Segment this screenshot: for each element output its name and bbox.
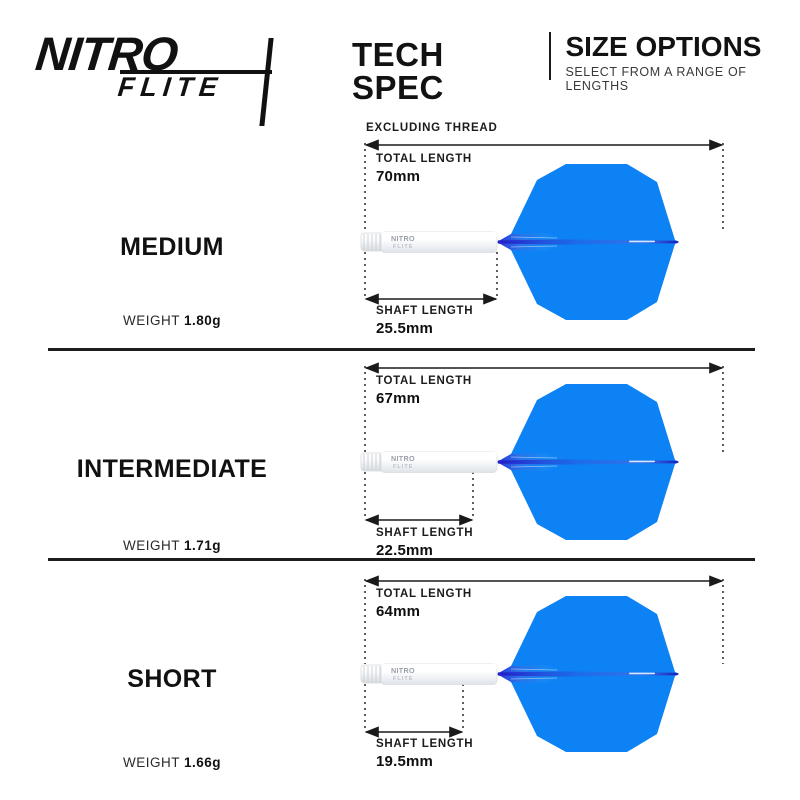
total-length-label-intermediate: TOTAL LENGTH xyxy=(376,375,472,387)
excluding-thread-note: EXCLUDING THREAD xyxy=(366,122,498,134)
size-name-medium: MEDIUM xyxy=(22,233,322,262)
total-length-value-short: 64mm xyxy=(376,603,420,620)
total-length-value-medium: 70mm xyxy=(376,168,420,185)
header-subtitle-group: SIZE OPTIONS SELECT FROM A RANGE OF LENG… xyxy=(565,32,800,93)
weight-label: WEIGHT xyxy=(123,313,180,328)
total-length-label-medium: TOTAL LENGTH xyxy=(376,153,472,165)
size-name-intermediate: INTERMEDIATE xyxy=(22,455,322,484)
shaft-length-label-short: SHAFT LENGTH xyxy=(376,738,473,750)
weight-short: WEIGHT 1.66g xyxy=(22,755,322,770)
dart-illustration-intermediate xyxy=(361,384,679,540)
weight-label: WEIGHT xyxy=(123,755,180,770)
brand-logo: NITRO FLITE xyxy=(36,30,276,108)
page-header: NITRO FLITE TECH SPEC SIZE OPTIONS SELEC… xyxy=(0,0,800,112)
weight-value: 1.71g xyxy=(184,538,221,553)
weight-medium: WEIGHT 1.80g xyxy=(22,313,322,328)
weight-label: WEIGHT xyxy=(123,538,180,553)
shaft-length-value-short: 19.5mm xyxy=(376,753,433,770)
brand-logo-slash xyxy=(259,38,273,126)
header-subtitle: SIZE OPTIONS xyxy=(565,32,800,61)
shaft-length-value-intermediate: 22.5mm xyxy=(376,542,433,559)
size-name-short: SHORT xyxy=(22,665,322,694)
total-length-label-short: TOTAL LENGTH xyxy=(376,588,472,600)
section-divider xyxy=(48,558,755,561)
page-title: TECH SPEC xyxy=(352,32,549,104)
weight-intermediate: WEIGHT 1.71g xyxy=(22,538,322,553)
shaft-length-value-medium: 25.5mm xyxy=(376,320,433,337)
header-vertical-divider xyxy=(549,32,552,80)
section-divider xyxy=(48,348,755,351)
brand-logo-flite: FLITE xyxy=(117,74,225,101)
dart-illustration-medium xyxy=(361,164,679,320)
shaft-length-label-medium: SHAFT LENGTH xyxy=(376,305,473,317)
weight-value: 1.66g xyxy=(184,755,221,770)
shaft-length-label-intermediate: SHAFT LENGTH xyxy=(376,527,473,539)
total-length-value-intermediate: 67mm xyxy=(376,390,420,407)
header-title-group: TECH SPEC SIZE OPTIONS SELECT FROM A RAN… xyxy=(352,32,800,104)
header-subtitle-caption: SELECT FROM A RANGE OF LENGTHS xyxy=(565,65,800,93)
weight-value: 1.80g xyxy=(184,313,221,328)
